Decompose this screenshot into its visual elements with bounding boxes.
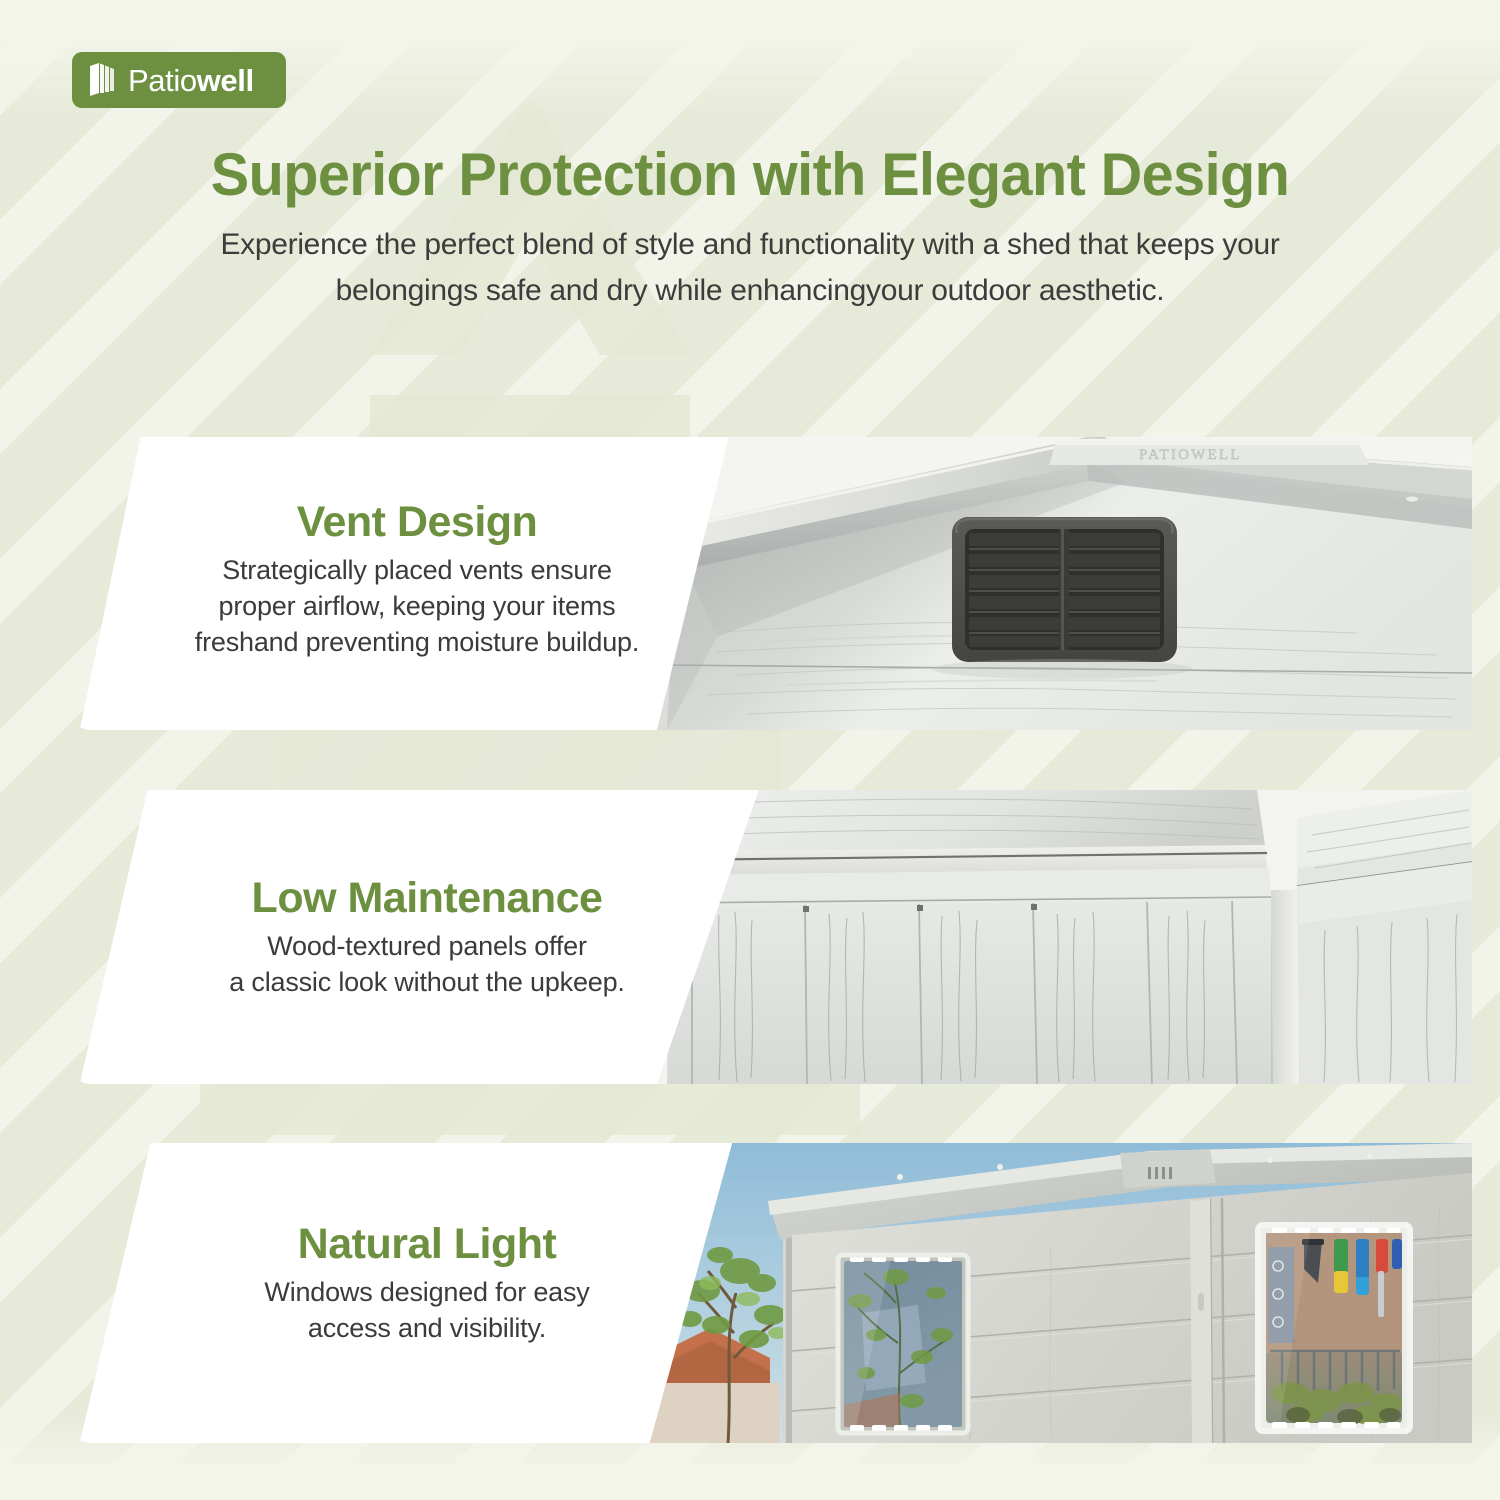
feature-body-line-1: Windows designed for easy (177, 1275, 677, 1311)
logo-wordmark: Patiowell (128, 65, 254, 96)
feature-card-low-maintenance: Low Maintenance Wood-textured panels off… (72, 790, 1472, 1084)
feature-text-vent-design: Vent Design Strategically placed vents e… (167, 499, 667, 661)
feature-body-line-1: Strategically placed vents ensure (167, 553, 667, 589)
feature-image-wood-panels (657, 790, 1472, 1084)
feature-body-line-3: freshand preventing moisture buildup. (167, 625, 667, 661)
feature-body: Wood-textured panels offer a classic loo… (167, 929, 687, 1001)
subtitle-line-2: belongings safe and dry while enhancingy… (110, 268, 1390, 314)
feature-body: Windows designed for easy access and vis… (177, 1275, 677, 1347)
logo-text-well: well (197, 63, 254, 98)
feature-body: Strategically placed vents ensure proper… (167, 553, 667, 661)
svg-text:PATIOWELL: PATIOWELL (1139, 447, 1242, 463)
feature-title: Vent Design (167, 499, 667, 546)
feature-body-line-2: access and visibility. (177, 1311, 677, 1347)
infographic-page: Patiowell Superior Protection with Elega… (0, 0, 1500, 1500)
feature-body-line-2: a classic look without the upkeep. (167, 965, 687, 1001)
feature-image-vent: PATIOWELL (657, 437, 1472, 730)
feature-body-line-1: Wood-textured panels offer (167, 929, 687, 965)
layered-panels-icon (86, 62, 120, 98)
subtitle-line-1: Experience the perfect blend of style an… (110, 222, 1390, 268)
feature-image-windows (650, 1143, 1472, 1443)
patiowell-logo[interactable]: Patiowell (72, 52, 286, 108)
feature-title: Low Maintenance (167, 875, 687, 922)
feature-text-natural-light: Natural Light Windows designed for easy … (177, 1221, 677, 1347)
feature-card-vent-design: PATIOWELL (72, 437, 1472, 730)
page-subtitle: Experience the perfect blend of style an… (110, 222, 1390, 313)
feature-title: Natural Light (177, 1221, 677, 1268)
page-headline: Superior Protection with Elegant Design (30, 140, 1470, 209)
logo-text-patio: Patio (128, 63, 197, 98)
feature-body-line-2: proper airflow, keeping your items (167, 589, 667, 625)
feature-card-natural-light: Natural Light Windows designed for easy … (72, 1143, 1472, 1443)
feature-text-low-maintenance: Low Maintenance Wood-textured panels off… (167, 875, 687, 1001)
